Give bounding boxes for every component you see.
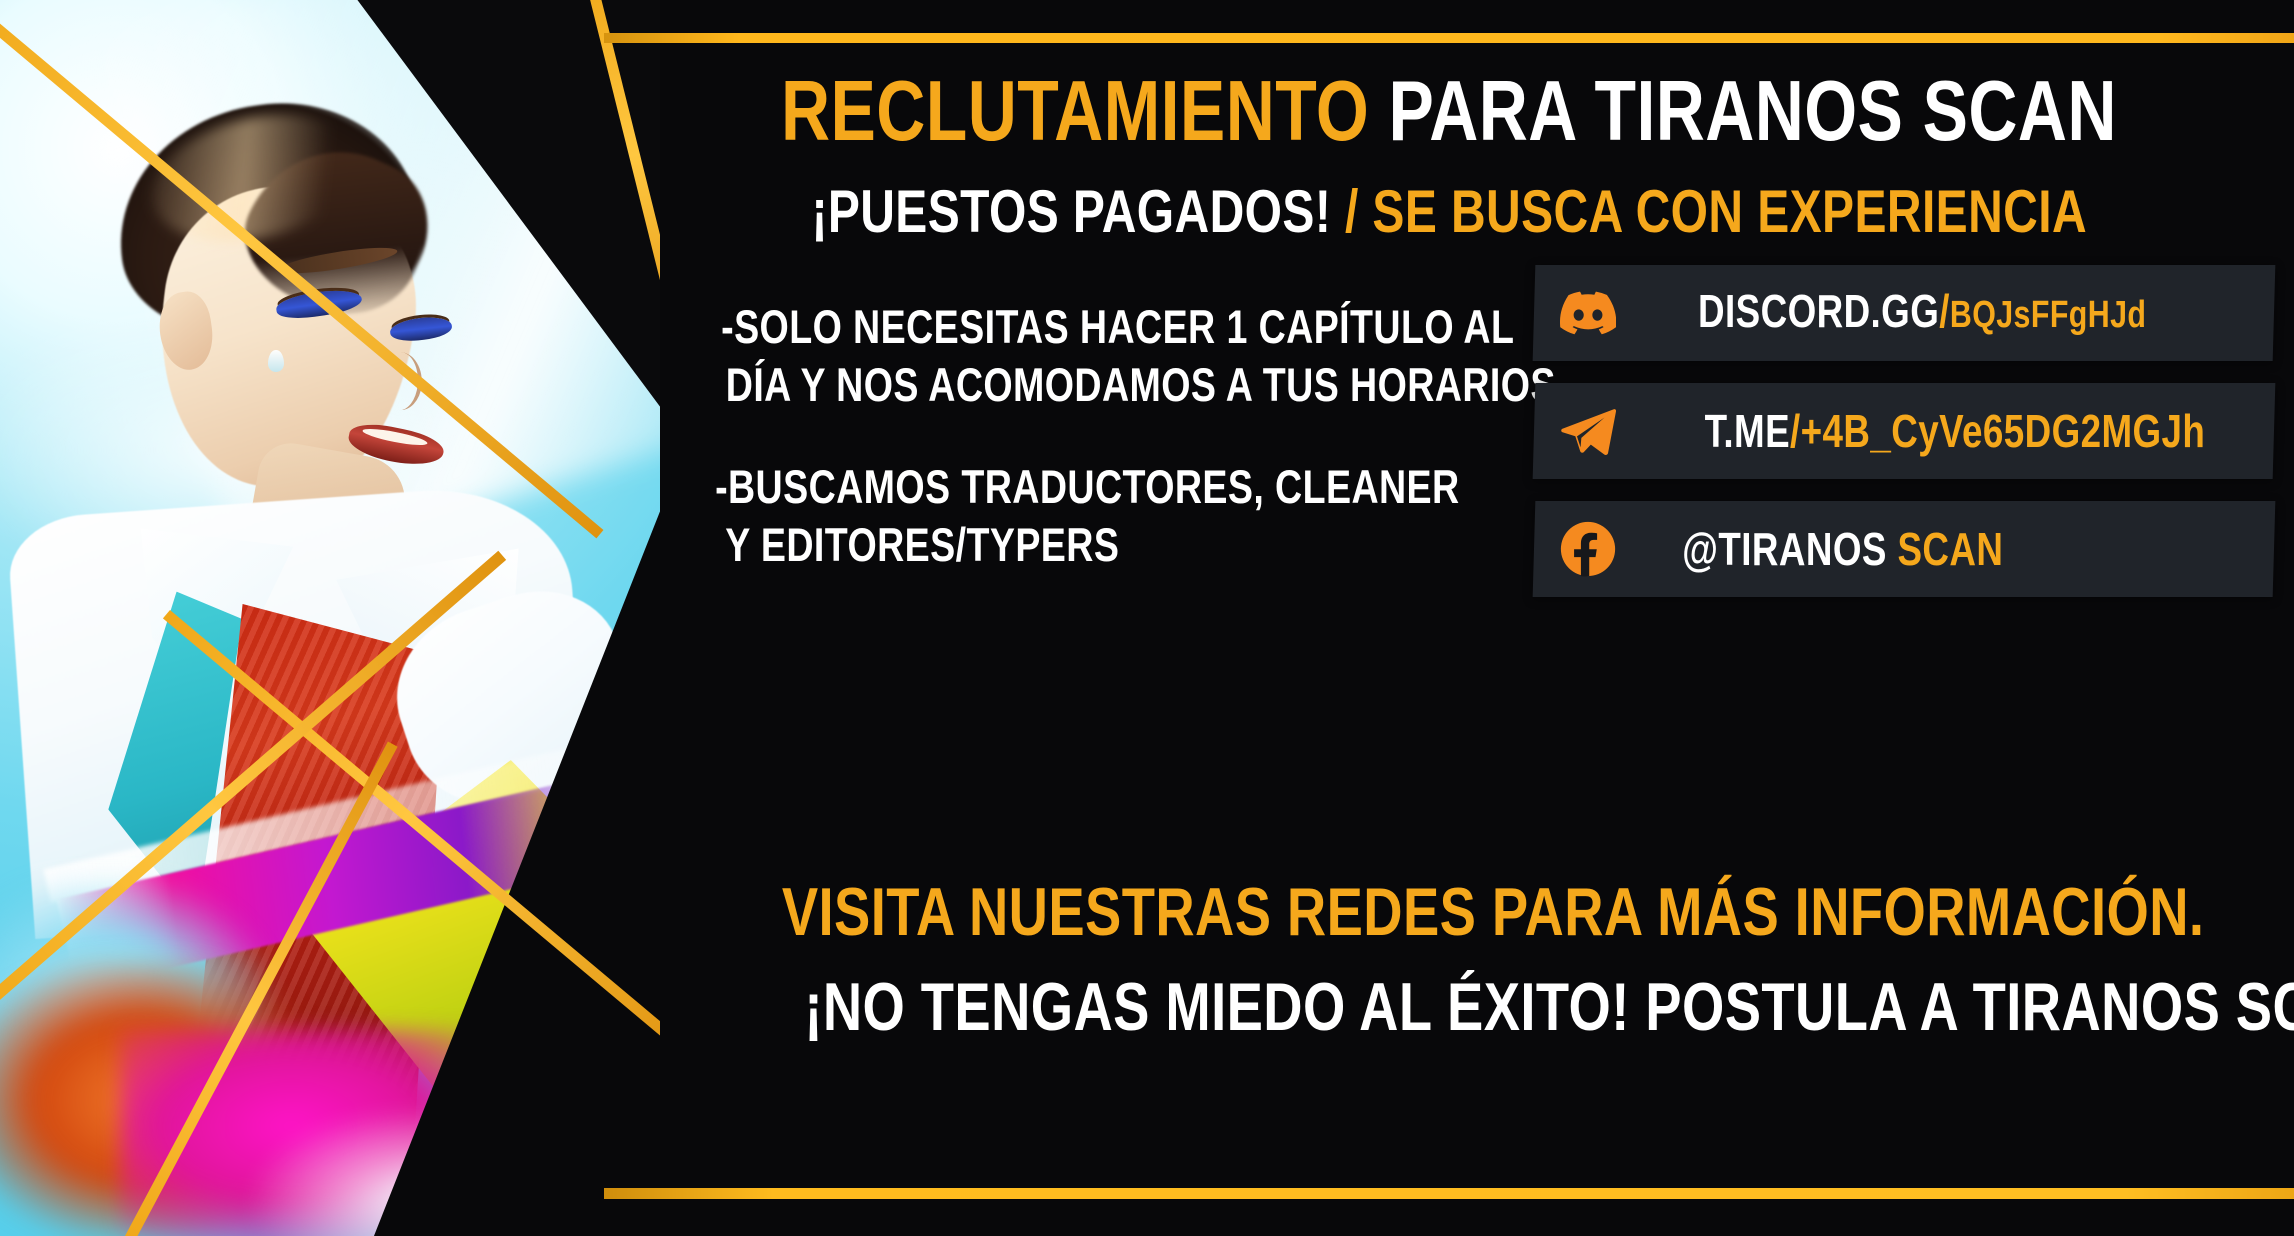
list-item: -SOLO NECESITAS HACER 1 CAPÍTULO AL <box>622 298 1512 356</box>
contact-label-discord: DISCORD.GG <box>1698 285 1939 337</box>
cta-line-apply: ¡NO TENGAS MIEDO AL ÉXITO! POSTULA A TIR… <box>604 968 2294 1046</box>
cta-line-visit: VISITA NUESTRAS REDES PARA MÁS INFORMACI… <box>604 873 2294 951</box>
headline-secondary: ¡PUESTOS PAGADOS! / SE BUSCA CON EXPERIE… <box>604 178 2294 246</box>
headline-separator: / <box>1345 178 1359 245</box>
contact-value-facebook: SCAN <box>1897 523 2003 575</box>
list-item: -BUSCAMOS TRADUCTORES, CLEANER <box>622 458 1512 516</box>
list-item: DÍA Y NOS ACOMODAMOS A TUS HORARIOS <box>622 356 1512 414</box>
headline-primary: RECLUTAMIENTO PARA TIRANOS SCAN <box>604 65 2294 159</box>
contact-text-facebook: @TIRANOS SCAN <box>1642 523 2043 575</box>
bullet-text: DÍA Y NOS ACOMODAMOS A TUS HORARIOS <box>726 356 1556 414</box>
contact-cards: DISCORD.GG/BQJsFFgHJd T.ME/+4B_CyVe <box>1534 265 2274 619</box>
list-spacer <box>622 414 1512 458</box>
contact-value-discord: BQJsFFgHJd <box>1950 294 2147 336</box>
contact-separator-discord: / <box>1939 285 1950 337</box>
requirements-list: -SOLO NECESITAS HACER 1 CAPÍTULO AL DÍA … <box>622 298 1512 574</box>
recruitment-banner: RECLUTAMIENTO PARA TIRANOS SCAN ¡PUESTOS… <box>0 0 2294 1236</box>
contact-label-facebook: @TIRANOS <box>1682 523 1887 575</box>
character-sweat-drop <box>268 350 284 372</box>
contact-text-telegram: T.ME/+4B_CyVe65DG2MGJh <box>1642 405 2268 457</box>
facebook-icon <box>1560 521 1616 577</box>
gold-rule-bottom <box>604 1188 2294 1199</box>
headline-experience: SE BUSCA CON EXPERIENCIA <box>1372 178 2087 245</box>
contact-label-telegram: T.ME <box>1705 405 1790 457</box>
cta-text-apply: ¡NO TENGAS MIEDO AL ÉXITO! POSTULA A TIR… <box>804 968 2294 1046</box>
contact-text-discord: DISCORD.GG/BQJsFFgHJd <box>1642 285 2202 341</box>
list-item: Y EDITORES/TYPERS <box>622 516 1512 574</box>
contact-card-discord[interactable]: DISCORD.GG/BQJsFFgHJd <box>1533 265 2276 361</box>
banner-content: RECLUTAMIENTO PARA TIRANOS SCAN ¡PUESTOS… <box>604 43 2294 1188</box>
cta-text-visit: VISITA NUESTRAS REDES PARA MÁS INFORMACI… <box>782 873 2205 951</box>
contact-card-telegram[interactable]: T.ME/+4B_CyVe65DG2MGJh <box>1533 383 2276 479</box>
discord-icon <box>1560 285 1616 341</box>
contact-separator-telegram: / <box>1790 405 1801 457</box>
character-artwork <box>0 0 660 1236</box>
headline-word-reclutamiento: RECLUTAMIENTO <box>781 64 1369 159</box>
bullet-text: -BUSCAMOS TRADUCTORES, CLEANER <box>715 458 1460 516</box>
contact-card-facebook[interactable]: @TIRANOS SCAN <box>1533 501 2276 597</box>
headline-paid-positions: ¡PUESTOS PAGADOS! <box>811 178 1331 245</box>
bullet-text: -SOLO NECESITAS HACER 1 CAPÍTULO AL <box>721 298 1514 356</box>
headline-rest-primary: PARA TIRANOS SCAN <box>1389 64 2117 159</box>
gold-rule-top <box>604 33 2294 43</box>
contact-value-telegram: +4B_CyVe65DG2MGJh <box>1801 405 2206 457</box>
telegram-icon <box>1560 403 1616 459</box>
bullet-text: Y EDITORES/TYPERS <box>725 516 1119 574</box>
